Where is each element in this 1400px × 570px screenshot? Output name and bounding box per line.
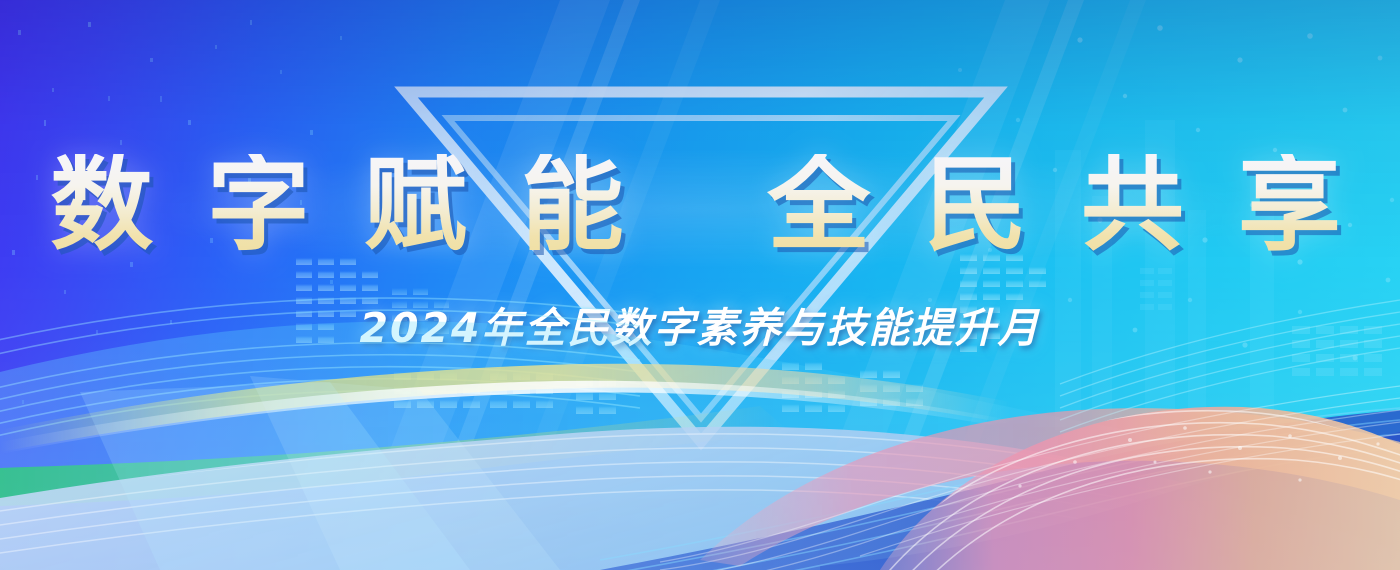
digital-literacy-campaign-banner: 数 字 赋 能 全 民 共 享 2024年全民数字素养与技能提升月 — [0, 0, 1400, 570]
vertical-tint-overlay — [0, 0, 1400, 570]
